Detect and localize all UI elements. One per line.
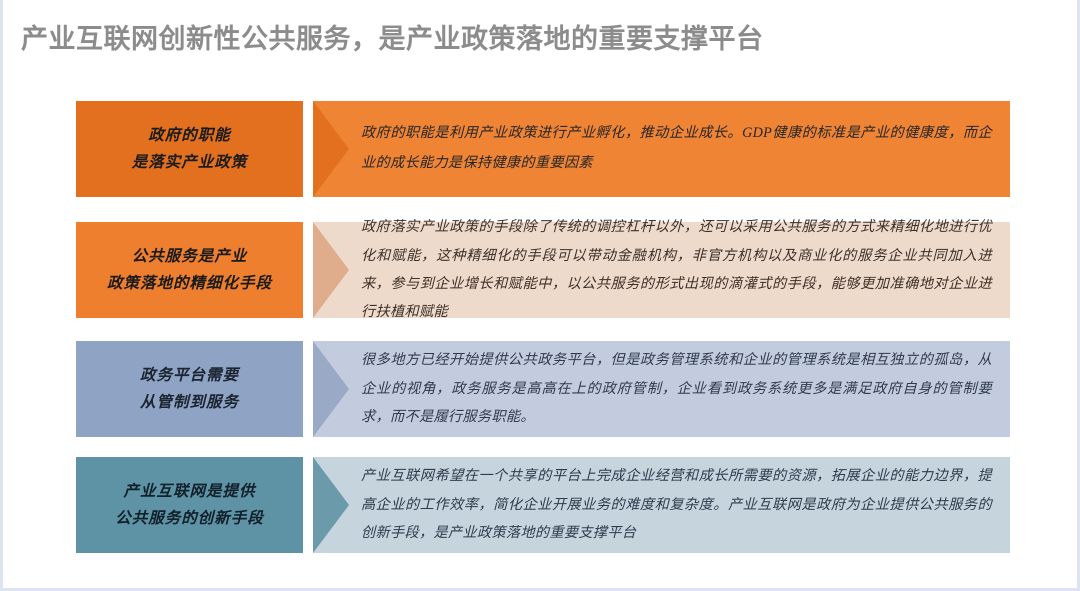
row-label-box: 公共服务是产业 政策落地的精细化手段	[76, 222, 303, 318]
process-row: 政府的职能 是落实产业政策 政府的职能是利用产业政策进行产业孵化，推动企业成长。…	[76, 101, 1010, 197]
row-label-text: 政府的职能 是落实产业政策	[132, 122, 248, 176]
row-body-text: 政府落实产业政策的手段除了传统的调控杠杆以外，还可以采用公共服务的方式来精细化地…	[361, 213, 992, 327]
row-body-panel: 政府落实产业政策的手段除了传统的调控杠杆以外，还可以采用公共服务的方式来精细化地…	[313, 222, 1010, 318]
arrow-right-icon	[313, 341, 349, 437]
row-body-panel: 很多地方已经开始提供公共政务平台，但是政务管理系统和企业的管理系统是相互独立的孤…	[313, 341, 1010, 437]
slide-canvas: 产业互联网创新性公共服务，是产业政策落地的重要支撑平台 政府的职能 是落实产业政…	[0, 0, 1080, 591]
row-label-text: 政务平台需要 从管制到服务	[140, 362, 239, 416]
arrow-right-icon	[313, 457, 349, 553]
row-body-text-wrap: 政府落实产业政策的手段除了传统的调控杠杆以外，还可以采用公共服务的方式来精细化地…	[361, 222, 992, 318]
process-rows: 政府的职能 是落实产业政策 政府的职能是利用产业政策进行产业孵化，推动企业成长。…	[3, 0, 1077, 588]
row-body-text-wrap: 政府的职能是利用产业政策进行产业孵化，推动企业成长。GDP健康的标准是产业的健康…	[361, 101, 992, 197]
row-body-text-wrap: 产业互联网希望在一个共享的平台上完成企业经营和成长所需要的资源，拓展企业的能力边…	[361, 457, 992, 553]
row-label-text: 产业互联网是提供 公共服务的创新手段	[115, 478, 264, 532]
row-body-text: 政府的职能是利用产业政策进行产业孵化，推动企业成长。GDP健康的标准是产业的健康…	[361, 119, 992, 179]
process-row: 政务平台需要 从管制到服务 很多地方已经开始提供公共政务平台，但是政务管理系统和…	[76, 341, 1010, 437]
row-body-text: 很多地方已经开始提供公共政务平台，但是政务管理系统和企业的管理系统是相互独立的孤…	[361, 346, 992, 431]
row-body-panel: 产业互联网希望在一个共享的平台上完成企业经营和成长所需要的资源，拓展企业的能力边…	[313, 457, 1010, 553]
arrow-right-icon	[313, 101, 349, 197]
row-label-box: 政府的职能 是落实产业政策	[76, 101, 303, 197]
row-label-box: 政务平台需要 从管制到服务	[76, 341, 303, 437]
row-body-text-wrap: 很多地方已经开始提供公共政务平台，但是政务管理系统和企业的管理系统是相互独立的孤…	[361, 341, 992, 437]
row-body-panel: 政府的职能是利用产业政策进行产业孵化，推动企业成长。GDP健康的标准是产业的健康…	[313, 101, 1010, 197]
arrow-right-icon	[313, 222, 349, 318]
row-label-box: 产业互联网是提供 公共服务的创新手段	[76, 457, 303, 553]
row-label-text: 公共服务是产业 政策落地的精细化手段	[107, 243, 272, 297]
process-row: 公共服务是产业 政策落地的精细化手段 政府落实产业政策的手段除了传统的调控杠杆以…	[76, 222, 1010, 318]
process-row: 产业互联网是提供 公共服务的创新手段 产业互联网希望在一个共享的平台上完成企业经…	[76, 457, 1010, 553]
row-body-text: 产业互联网希望在一个共享的平台上完成企业经营和成长所需要的资源，拓展企业的能力边…	[361, 462, 992, 547]
